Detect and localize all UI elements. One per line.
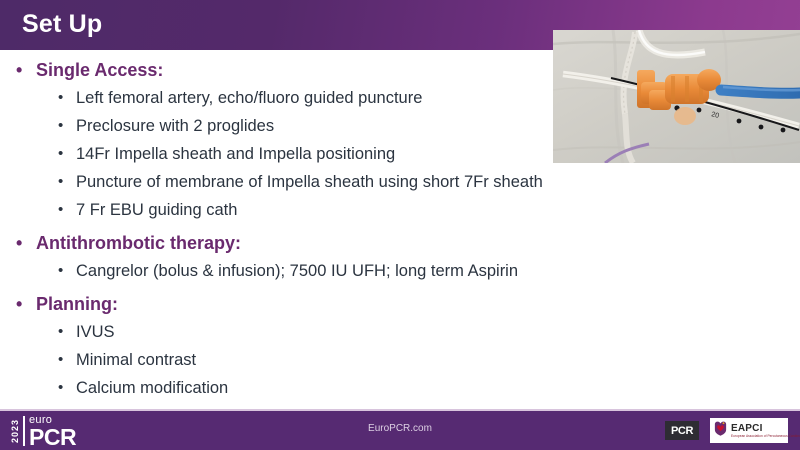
list-item-label: 7 Fr EBU guiding cath: [76, 201, 237, 219]
list-item-label: Minimal contrast: [76, 351, 196, 369]
sub-bullet-icon: •: [58, 319, 63, 345]
list-item: • 7 Fr EBU guiding cath: [0, 197, 800, 225]
eapci-subtitle: European Association of Percutaneous Car…: [731, 434, 800, 438]
eapci-logo: EAPCI European Association of Percutaneo…: [710, 418, 788, 443]
list-item: • Preclosure with 2 proglides: [0, 113, 800, 141]
list-item: • Minimal contrast: [0, 347, 800, 375]
list-item: • 14Fr Impella sheath and Impella positi…: [0, 141, 800, 169]
pcr-badge: PCR: [665, 421, 699, 440]
list-item: • Calcium modification: [0, 375, 800, 403]
list-item: • IVUS: [0, 319, 800, 347]
section-heading-label: Antithrombotic therapy:: [36, 233, 241, 253]
bullet-icon: •: [16, 56, 22, 84]
sub-bullet-icon: •: [58, 141, 63, 167]
slide-body: • Single Access: • Left femoral artery, …: [0, 56, 800, 403]
bullet-icon: •: [16, 229, 22, 257]
list-item: • Left femoral artery, echo/fluoro guide…: [0, 85, 800, 113]
sub-bullet-icon: •: [58, 85, 63, 111]
eapci-name: EAPCI: [731, 423, 800, 434]
list-item-label: IVUS: [76, 323, 115, 341]
sub-bullet-icon: •: [58, 347, 63, 373]
list-item-label: 14Fr Impella sheath and Impella position…: [76, 145, 395, 163]
heart-icon: [713, 421, 728, 441]
sub-bullet-icon: •: [58, 258, 63, 284]
page-title: Set Up: [22, 10, 102, 39]
list-item-label: Preclosure with 2 proglides: [76, 117, 274, 135]
heart-icon-graphic: [713, 421, 728, 436]
section-heading-planning: • Planning:: [0, 290, 800, 319]
sub-bullet-icon: •: [58, 169, 63, 195]
list-item-label: Left femoral artery, echo/fluoro guided …: [76, 89, 422, 107]
section-heading-single-access: • Single Access:: [0, 56, 800, 85]
sub-bullet-icon: •: [58, 197, 63, 223]
section-heading-label: Single Access:: [36, 60, 163, 80]
section-heading-antithrombotic-therapy: • Antithrombotic therapy:: [0, 229, 800, 258]
section-heading-label: Planning:: [36, 294, 118, 314]
eapci-text: EAPCI European Association of Percutaneo…: [731, 423, 800, 438]
slide-canvas: Set Up: [0, 0, 800, 450]
list-item-label: Calcium modification: [76, 379, 228, 397]
list-item: • Cangrelor (bolus & infusion); 7500 IU …: [0, 258, 800, 286]
list-item: • Puncture of membrane of Impella sheath…: [0, 169, 800, 197]
sub-bullet-icon: •: [58, 375, 63, 401]
sub-bullet-icon: •: [58, 113, 63, 139]
bullet-icon: •: [16, 290, 22, 318]
list-item-label: Puncture of membrane of Impella sheath u…: [76, 173, 543, 191]
list-item-label: Cangrelor (bolus & infusion); 7500 IU UF…: [76, 262, 518, 280]
